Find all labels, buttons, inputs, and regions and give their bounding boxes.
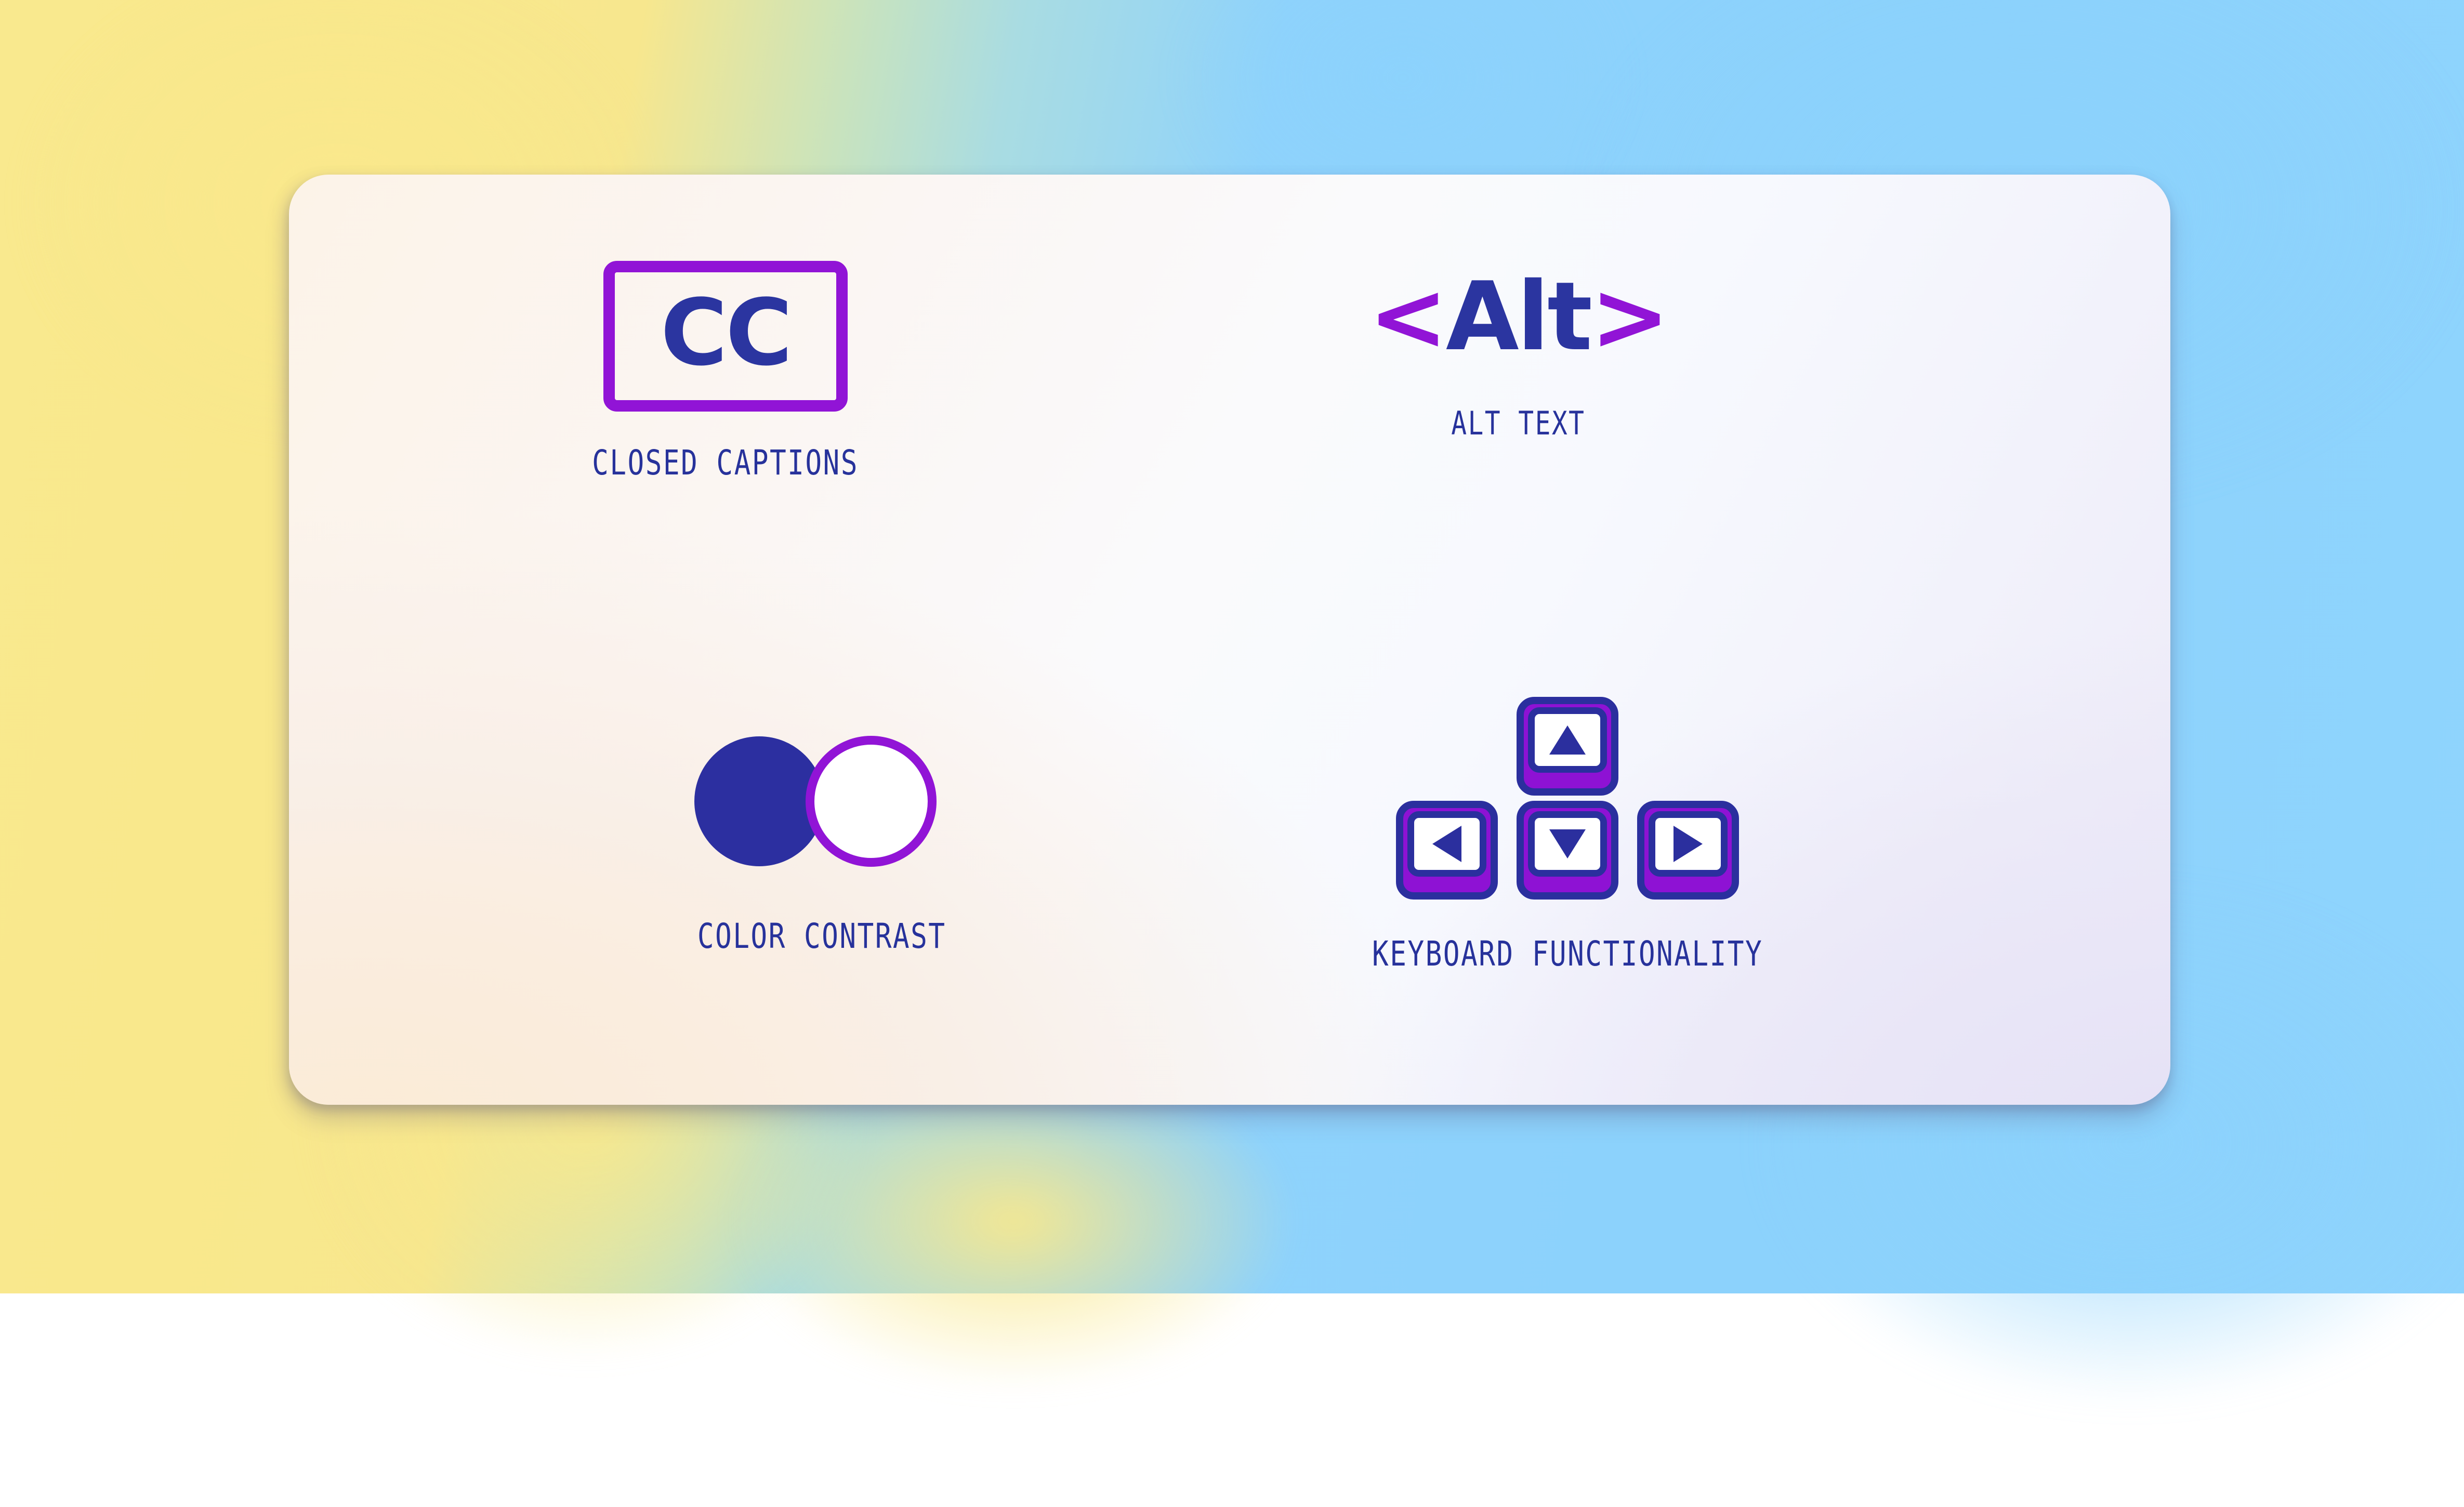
arrow-left-keycap bbox=[1407, 811, 1486, 877]
feature-label-color-contrast: COLOR CONTRAST bbox=[697, 916, 946, 956]
alt-word: Alt bbox=[1446, 261, 1590, 372]
accessibility-features-card: CC CLOSED CAPTIONS <Alt> ALT TEXT COLO bbox=[289, 175, 2170, 1105]
cc-badge-box: CC bbox=[603, 261, 848, 412]
arrow-down-key[interactable] bbox=[1517, 801, 1618, 900]
alt-bracket-close: > bbox=[1590, 261, 1668, 372]
arrow-left-icon bbox=[1432, 826, 1461, 862]
alt-bracket-open: < bbox=[1368, 261, 1446, 372]
feature-alt-text[interactable]: <Alt> ALT TEXT bbox=[1230, 175, 2170, 640]
arrow-up-icon bbox=[1549, 725, 1586, 755]
color-contrast-circles-icon bbox=[694, 736, 949, 866]
features-grid: CC CLOSED CAPTIONS <Alt> ALT TEXT COLO bbox=[289, 175, 2170, 1105]
feature-label-alt-text: ALT TEXT bbox=[1451, 404, 1585, 442]
feature-label-closed-captions: CLOSED CAPTIONS bbox=[592, 443, 859, 483]
arrow-left-key[interactable] bbox=[1396, 801, 1498, 900]
feature-color-contrast[interactable]: COLOR CONTRAST bbox=[289, 640, 1230, 1105]
contrast-circle-pair bbox=[694, 736, 949, 866]
outlined-white-circle bbox=[806, 736, 937, 867]
arrow-right-icon bbox=[1674, 826, 1703, 862]
arrow-key-cluster bbox=[1396, 697, 1739, 900]
filled-navy-circle bbox=[694, 736, 824, 866]
arrow-right-keycap bbox=[1649, 811, 1728, 877]
arrow-down-keycap bbox=[1528, 811, 1607, 877]
alt-tag-graphic: <Alt> bbox=[1368, 269, 1667, 364]
arrow-right-key[interactable] bbox=[1637, 801, 1739, 900]
feature-closed-captions[interactable]: CC CLOSED CAPTIONS bbox=[289, 175, 1230, 640]
arrow-up-keycap bbox=[1528, 707, 1607, 773]
arrow-keys-icon bbox=[1396, 697, 1739, 900]
arrow-up-key[interactable] bbox=[1517, 697, 1618, 796]
cc-badge-text: CC bbox=[661, 287, 790, 379]
feature-keyboard-functionality[interactable]: KEYBOARD FUNCTIONALITY bbox=[1230, 640, 2170, 1105]
arrow-down-icon bbox=[1549, 829, 1586, 858]
closed-captions-icon: CC bbox=[603, 261, 848, 412]
alt-text-icon: <Alt> bbox=[1368, 269, 1667, 364]
feature-label-keyboard-functionality: KEYBOARD FUNCTIONALITY bbox=[1372, 934, 1763, 974]
